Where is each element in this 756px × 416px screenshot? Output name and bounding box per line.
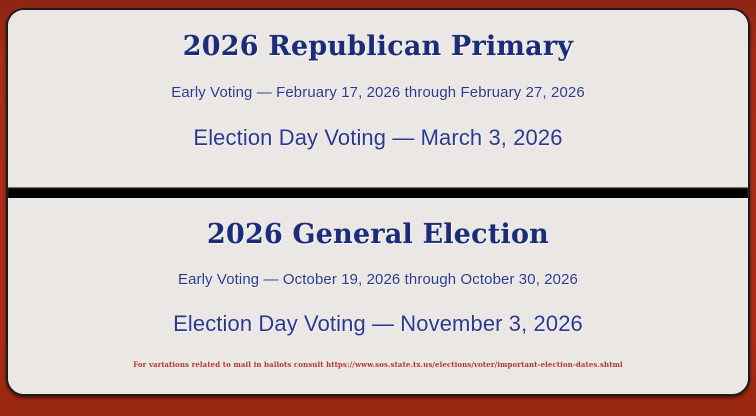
footnote-wrapper: For variations related to mail in ballot… — [8, 361, 748, 369]
primary-early-voting-text: Early Voting — February 17, 2026 through… — [8, 84, 748, 102]
section-general-election: 2026 General Election Early Voting — Oct… — [8, 198, 748, 394]
mail-in-ballot-footnote: For variations related to mail in ballot… — [8, 361, 748, 369]
spacer — [8, 289, 748, 311]
poster-panel: 2026 Republican Primary Early Voting — F… — [6, 8, 750, 396]
section-republican-primary: 2026 Republican Primary Early Voting — F… — [8, 10, 748, 187]
spacer — [8, 62, 748, 84]
general-heading: 2026 General Election — [8, 220, 748, 250]
spacer — [8, 250, 748, 271]
primary-election-day-text: Election Day Voting — March 3, 2026 — [8, 125, 748, 151]
section-divider — [8, 187, 748, 198]
general-election-day-text: Election Day Voting — November 3, 2026 — [8, 311, 748, 337]
spacer — [8, 102, 748, 125]
election-dates-poster: 2026 Republican Primary Early Voting — F… — [0, 0, 756, 416]
primary-heading: 2026 Republican Primary — [8, 32, 748, 62]
general-early-voting-text: Early Voting — October 19, 2026 through … — [8, 271, 748, 289]
